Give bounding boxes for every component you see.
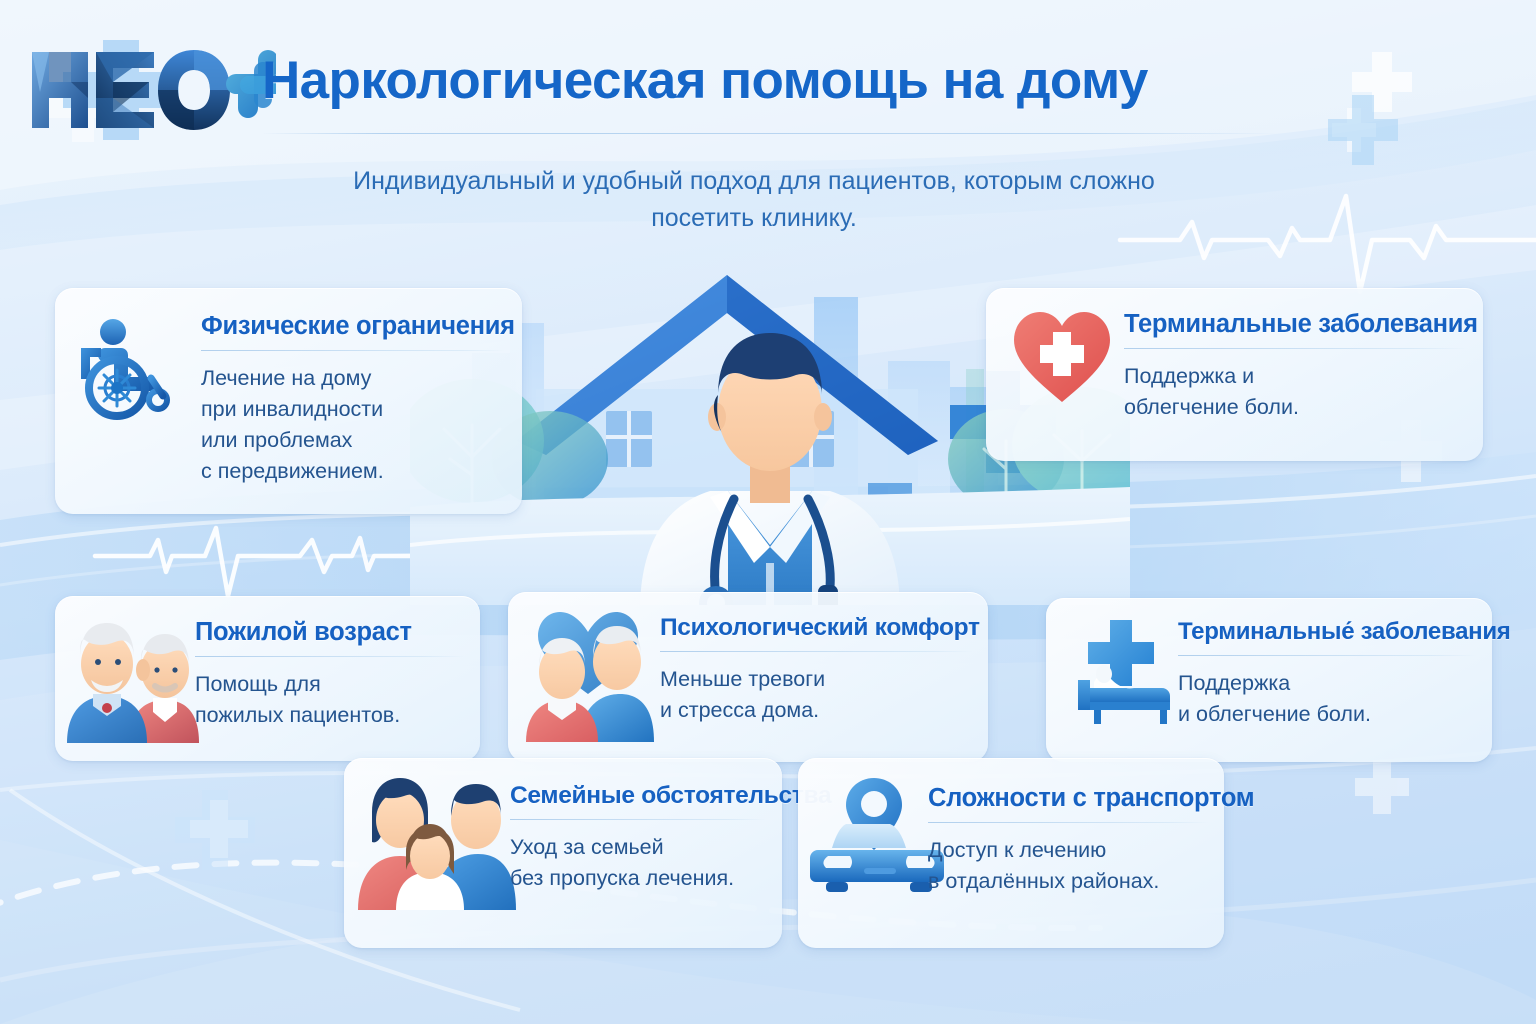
card-divider <box>660 651 972 652</box>
desc-line: при инвалидности <box>201 394 506 425</box>
card-description: Поддержка и облегчение боли. <box>1178 668 1476 730</box>
page-subtitle: Индивидуальный и удобный подход для паци… <box>324 163 1184 237</box>
card-description: Поддержка и облегчение боли. <box>1124 361 1467 423</box>
card-description: Помощь для пожилых пациентов. <box>195 669 464 731</box>
desc-line: без пропуска лечения. <box>510 863 766 894</box>
card-title: Сложности с транспортом <box>928 784 1208 813</box>
card-content: Пожилой возраст Помощь для пожилых пацие… <box>195 618 464 731</box>
card-content: Сложности с транспортом Доступ к лечению… <box>928 784 1208 897</box>
card-content: Семейные обстоятельства Уход за семьей б… <box>510 782 766 894</box>
card-description: Лечение на дому при инвалидности или про… <box>201 363 506 487</box>
desc-line: Уход за семьей <box>510 832 766 863</box>
desc-line: и облегчение боли. <box>1178 699 1476 730</box>
desc-line: облегчение боли. <box>1124 392 1467 423</box>
page-title: Наркологическая помощь на дому <box>262 50 1148 111</box>
cross-icon <box>175 790 255 870</box>
two-people-heart-icon <box>522 602 654 742</box>
card-divider <box>1124 348 1467 349</box>
desc-line: Лечение на дому <box>201 363 506 394</box>
desc-line: пожилых пациентов. <box>195 700 464 731</box>
card-divider <box>195 656 464 657</box>
card-psychological-comfort[interactable]: Психологический комфорт Меньше тревоги и… <box>508 592 988 762</box>
desc-line: Меньше тревоги <box>660 664 972 695</box>
card-divider <box>928 822 1208 823</box>
card-content: Терминальные́ заболевания Поддержка и об… <box>1178 618 1476 730</box>
subtitle-line: Индивидуальный и удобный подход для паци… <box>324 163 1184 200</box>
card-content: Терминальные заболевания Поддержка и обл… <box>1124 310 1467 423</box>
wheelchair-icon <box>73 308 193 420</box>
card-description: Меньше тревоги и стресса дома. <box>660 664 972 726</box>
card-divider <box>201 350 506 351</box>
desc-line: Поддержка <box>1178 668 1476 699</box>
desc-line: в отдалённых районах. <box>928 866 1208 897</box>
card-title: Терминальные́ заболевания <box>1178 618 1476 646</box>
brand-logo[interactable] <box>18 38 268 142</box>
desc-line: Поддержка и <box>1124 361 1467 392</box>
card-elderly-age[interactable]: Пожилой возраст Помощь для пожилых пацие… <box>55 596 480 761</box>
desc-line: с передвижением. <box>201 456 506 487</box>
card-physical-limitations[interactable]: Физические ограничения Лечение на дому п… <box>55 288 522 514</box>
card-title: Физические ограничения <box>201 312 506 341</box>
card-title: Психологический комфорт <box>660 614 972 642</box>
card-divider <box>510 819 766 820</box>
hospital-bed-cross-icon <box>1064 616 1188 726</box>
infographic-canvas: Наркологическая помощь на дому Индивидуа… <box>0 0 1536 1024</box>
card-terminal-illness-bed[interactable]: Терминальные́ заболевания Поддержка и об… <box>1046 598 1492 762</box>
heart-cross-icon <box>1008 302 1116 414</box>
card-content: Психологический комфорт Меньше тревоги и… <box>660 614 972 726</box>
desc-line: Доступ к лечению <box>928 835 1208 866</box>
family-icon <box>358 770 516 910</box>
card-title: Семейные обстоятельства <box>510 782 766 810</box>
desc-line: и стресса дома. <box>660 695 972 726</box>
card-divider <box>1178 655 1476 656</box>
card-family-circumstances[interactable]: Семейные обстоятельства Уход за семьей б… <box>344 758 782 948</box>
card-description: Доступ к лечению в отдалённых районах. <box>928 835 1208 897</box>
card-transport-difficulties[interactable]: Сложности с транспортом Доступ к лечению… <box>798 758 1224 948</box>
logo-wordmark <box>26 46 276 134</box>
elderly-couple-icon <box>67 608 199 743</box>
desc-line: Помощь для <box>195 669 464 700</box>
card-title: Пожилой возраст <box>195 618 464 647</box>
subtitle-line: посетить клинику. <box>324 200 1184 237</box>
cross-icon <box>1355 760 1409 814</box>
title-divider <box>262 133 1280 134</box>
card-description: Уход за семьей без пропуска лечения. <box>510 832 766 894</box>
card-terminal-illness-heart[interactable]: Терминальные заболевания Поддержка и обл… <box>986 288 1483 461</box>
cross-icon <box>190 800 248 858</box>
header: Наркологическая помощь на дому Индивидуа… <box>0 0 1536 148</box>
desc-line: или проблемах <box>201 425 506 456</box>
card-title: Терминальные заболевания <box>1124 310 1467 339</box>
card-content: Физические ограничения Лечение на дому п… <box>201 312 506 487</box>
